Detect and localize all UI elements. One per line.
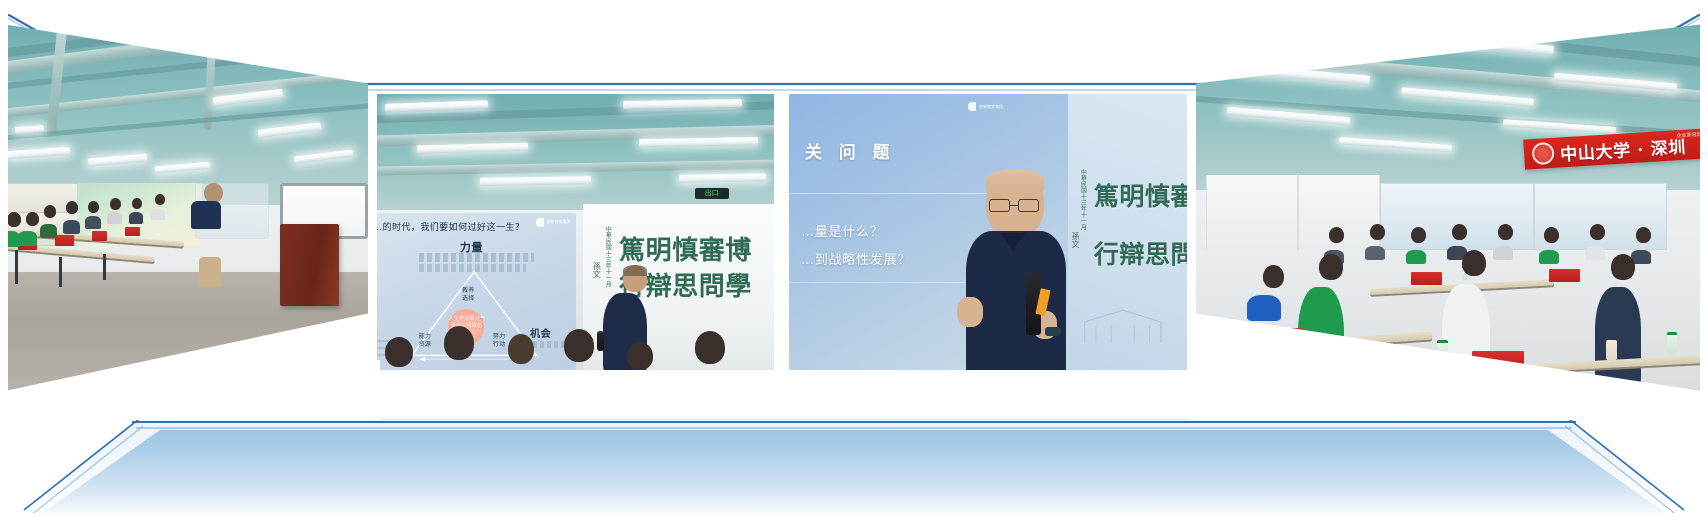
photo-panel-speaker-portrait[interactable]: 创新教育集团 关 问 题 …量是什么？ …到战略性发展？ 篤明慎審博 行辯思問學… bbox=[789, 94, 1187, 370]
slide-headline: …的时代，我们要如何过好这一生？ bbox=[377, 220, 524, 233]
exit-sign-label: 出口 bbox=[705, 188, 719, 198]
university-seal-icon bbox=[1531, 142, 1554, 165]
slide-left-label: 能力 资源 bbox=[419, 333, 432, 350]
qa-slide-headline: 关 问 题 bbox=[805, 138, 895, 163]
panel2-microphone bbox=[597, 331, 604, 351]
calligraphy-line-1: 篤明慎審博 bbox=[619, 230, 752, 267]
glasses-icon bbox=[989, 199, 1039, 212]
photo-panel-classroom-wide[interactable] bbox=[0, 18, 368, 392]
frame-top-margin bbox=[0, 0, 1708, 14]
panel3-speaker-torso bbox=[966, 231, 1066, 370]
audience-blue-polo bbox=[1247, 295, 1281, 321]
desk-nameplate bbox=[55, 235, 73, 246]
exit-sign: 出口 bbox=[695, 188, 729, 199]
banner-text: 中山大学 · 深圳 bbox=[1559, 132, 1686, 165]
frame-left-margin bbox=[0, 0, 8, 523]
banner-sub-text: 企业家培训 bbox=[1676, 131, 1701, 140]
panel3-speaker bbox=[964, 169, 1083, 370]
slide-right-label: 努力 行动 bbox=[493, 333, 506, 350]
calligraphy-signature: 孫文 bbox=[591, 262, 602, 288]
qa-slide-logo-text: 创新教育集团 bbox=[979, 104, 1003, 109]
desk-nameplate bbox=[1549, 269, 1580, 282]
panel3-calligraphy-line-1: 篤明慎審博 bbox=[1094, 177, 1187, 213]
desk-nameplate-front-1 bbox=[1257, 328, 1303, 350]
desk-nameplate-front-2 bbox=[1472, 351, 1523, 375]
frame-right-margin bbox=[1700, 0, 1708, 523]
qa-slide-bullet-1: …量是什么？ bbox=[801, 221, 884, 240]
podium-left bbox=[280, 224, 339, 306]
calligraphy-side-column: 中華民國十三年十一月 bbox=[603, 226, 612, 280]
qa-slide-bullet-2: …到战略性发展？ bbox=[801, 249, 911, 268]
photo-panel-lecture-slide[interactable]: 出口 创新教育集团 …的时代，我们要如何过好这一生？ 力量 bbox=[377, 94, 774, 370]
desk-nameplate bbox=[92, 231, 107, 241]
slide-bottom-right-label: 机会 bbox=[530, 325, 551, 340]
frame-bottom-margin bbox=[0, 513, 1708, 523]
gallery-stage: 出口 创新教育集团 …的时代，我们要如何过好这一生？ 力量 bbox=[0, 0, 1708, 523]
photo-panel-audience-rows[interactable]: 中山大学 · 深圳 企业家培训 bbox=[1196, 18, 1708, 392]
instructor-legs bbox=[199, 257, 221, 287]
instructor-torso bbox=[191, 201, 221, 229]
panel3-calligraphy-line-2: 行辯思問學 bbox=[1094, 235, 1187, 271]
slide-logo-text: 创新教育集团 bbox=[547, 219, 571, 224]
slide-mid-label: 教养 选择 bbox=[462, 287, 475, 304]
desk-nameplate bbox=[125, 227, 140, 236]
instructor-head bbox=[204, 183, 223, 203]
desk-nameplate bbox=[1411, 272, 1442, 285]
